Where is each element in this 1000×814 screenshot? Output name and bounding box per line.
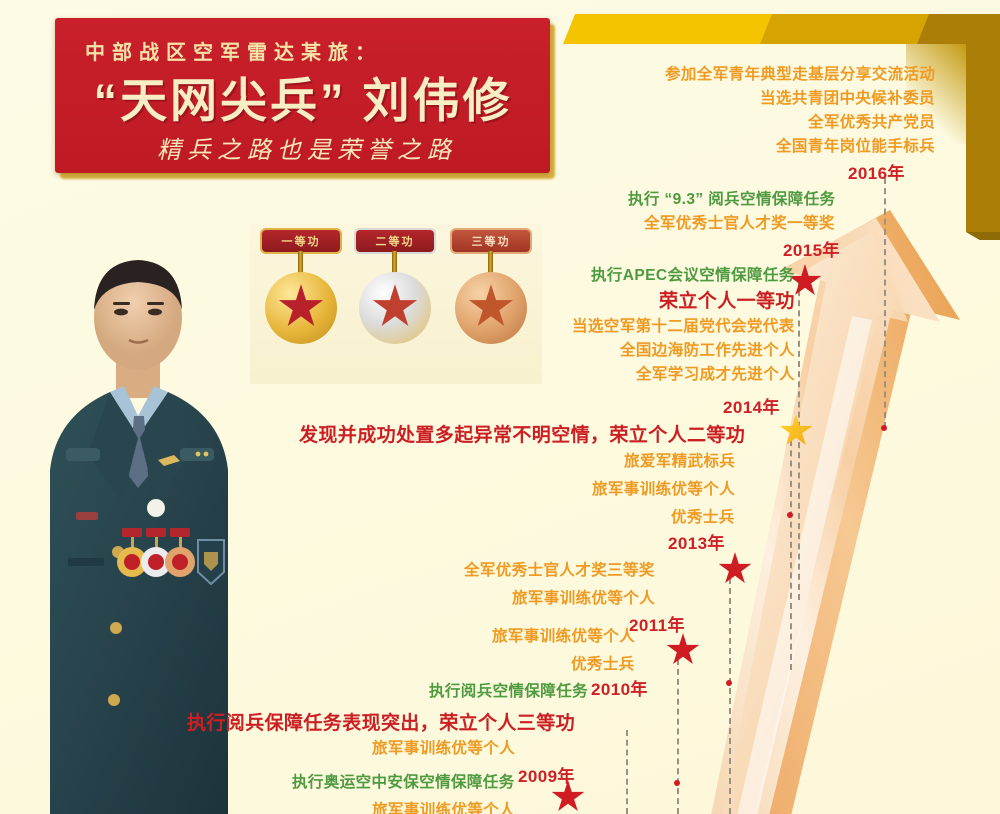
guide-line-5	[677, 649, 679, 814]
timeline-event-entry: 优秀士兵	[571, 657, 635, 673]
timeline-event-entry: 执行APEC会议空情保障任务	[591, 268, 795, 284]
medal-label: 一等功	[282, 233, 321, 249]
timeline-year-label: 2016年	[848, 165, 905, 182]
medal-first-class: 一等功	[256, 230, 346, 380]
timeline-year-label: 2015年	[783, 242, 840, 259]
medal-star	[372, 284, 418, 330]
guide-line-6	[626, 730, 628, 814]
timeline-event-entry: 当选空军第十二届党代会党代表	[572, 319, 795, 335]
timeline-event-entry: 参加全军青年典型走基层分享交流活动	[665, 67, 935, 83]
timeline-event-entry: 旅军事训练优等个人	[372, 803, 515, 814]
gold-ribbon-mid	[760, 14, 930, 44]
infographic-canvas: 中部战区空军雷达某旅： “天网尖兵” 刘伟修 精兵之路也是荣誉之路	[0, 0, 1000, 814]
medal-second-class: 二等功	[350, 230, 440, 380]
timeline-event-entry: 旅军事训练优等个人	[372, 741, 515, 757]
timeline-event-entry: 当选共青团中央候补委员	[760, 91, 935, 107]
timeline-merit-entry: 执行阅兵保障任务表现突出，荣立个人三等功	[187, 714, 575, 733]
page-title: “天网尖兵” 刘伟修	[77, 62, 529, 131]
medal-group: 一等功 二等功 三等功	[250, 224, 542, 384]
timeline-event-entry: 全军优秀士官人才奖一等奖	[644, 216, 835, 232]
guide-line-3	[790, 430, 792, 670]
timeline-event-entry: 全国青年岗位能手标兵	[776, 139, 935, 155]
timeline-event-entry: 旅军事训练优等个人	[512, 591, 655, 607]
timeline-event-entry: 全军优秀共产党员	[808, 115, 935, 131]
banner-subtitle: 精兵之路也是荣誉之路	[77, 130, 537, 165]
title-banner: 中部战区空军雷达某旅： “天网尖兵” 刘伟修 精兵之路也是荣誉之路	[55, 18, 550, 173]
timeline-event-entry: 优秀士兵	[671, 510, 735, 526]
medal-ribbon	[488, 251, 493, 273]
guide-dot-3	[726, 680, 732, 686]
timeline-event-entry: 全军学习成才先进个人	[636, 367, 795, 383]
medal-star	[278, 284, 324, 330]
medal-disc	[359, 272, 431, 344]
guide-dot-4	[674, 780, 680, 786]
medal-label: 二等功	[376, 233, 415, 249]
medal-star	[468, 284, 514, 330]
guide-dot-1	[881, 425, 887, 431]
timeline-event-entry: 全军优秀士官人才奖三等奖	[464, 563, 655, 579]
medal-label: 三等功	[472, 233, 511, 249]
timeline-event-entry: 旅爱军精武标兵	[624, 454, 735, 470]
guide-line-4	[729, 568, 731, 814]
medal-ribbon	[298, 251, 303, 273]
medal-disc	[455, 272, 527, 344]
medal-disc	[265, 272, 337, 344]
timeline-year-label: 2011年	[629, 617, 685, 634]
guide-line-1	[884, 178, 886, 428]
medal-ribbon	[392, 251, 397, 273]
timeline-year-label: 2010年	[591, 681, 648, 698]
timeline-year-label: 2013年	[668, 535, 725, 552]
timeline-year-label: 2009年	[518, 768, 575, 785]
timeline-merit-entry: 荣立个人一等功	[659, 292, 795, 311]
unit-line: 中部战区空军雷达某旅：	[85, 36, 382, 65]
timeline-event-entry: 全国边海防工作先进个人	[620, 343, 795, 359]
timeline-year-label: 2014年	[723, 399, 780, 416]
timeline-event-entry: 旅军事训练优等个人	[492, 629, 635, 645]
timeline-event-entry: 执行 “9.3” 阅兵空情保障任务	[628, 192, 835, 208]
timeline-event-entry: 旅军事训练优等个人	[592, 482, 735, 498]
timeline-event-entry: 执行阅兵空情保障任务	[429, 684, 588, 700]
timeline-event-entry: 执行奥运空中安保空情保障任务	[292, 775, 515, 791]
medal-third-class: 三等功	[446, 230, 536, 380]
gold-ribbon-bright	[563, 14, 773, 44]
timeline-merit-entry: 发现并成功处置多起异常不明空情，荣立个人二等功	[299, 426, 745, 445]
guide-dot-2	[787, 512, 793, 518]
